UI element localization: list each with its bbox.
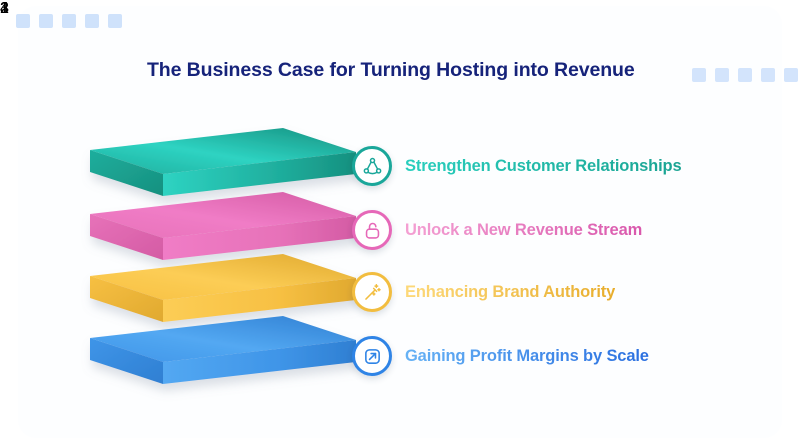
- step-label: Unlock a New Revenue Stream: [405, 221, 642, 240]
- step-label: Strengthen Customer Relationships: [405, 157, 682, 176]
- external-link-icon[interactable]: [352, 336, 392, 376]
- page-title: The Business Case for Turning Hosting in…: [147, 59, 687, 82]
- decor-squares-top-right: [692, 68, 798, 82]
- step-number: 4: [0, 0, 800, 18]
- network-share-icon[interactable]: [352, 146, 392, 186]
- decor-square: [692, 68, 706, 82]
- decor-square: [715, 68, 729, 82]
- decor-square: [738, 68, 752, 82]
- decor-square: [761, 68, 775, 82]
- infographic-canvas: The Business Case for Turning Hosting in…: [0, 0, 800, 445]
- decor-square: [784, 68, 798, 82]
- step-slab[interactable]: [78, 310, 358, 394]
- unlock-padlock-icon[interactable]: [352, 210, 392, 250]
- step-item[interactable]: Strengthen Customer Relationships: [352, 146, 682, 186]
- step-item[interactable]: Unlock a New Revenue Stream: [352, 210, 642, 250]
- step-label: Gaining Profit Margins by Scale: [405, 347, 649, 366]
- step-label: Enhancing Brand Authority: [405, 283, 615, 302]
- step-item[interactable]: Gaining Profit Margins by Scale: [352, 336, 649, 376]
- magic-wand-icon[interactable]: [352, 272, 392, 312]
- step-item[interactable]: Enhancing Brand Authority: [352, 272, 615, 312]
